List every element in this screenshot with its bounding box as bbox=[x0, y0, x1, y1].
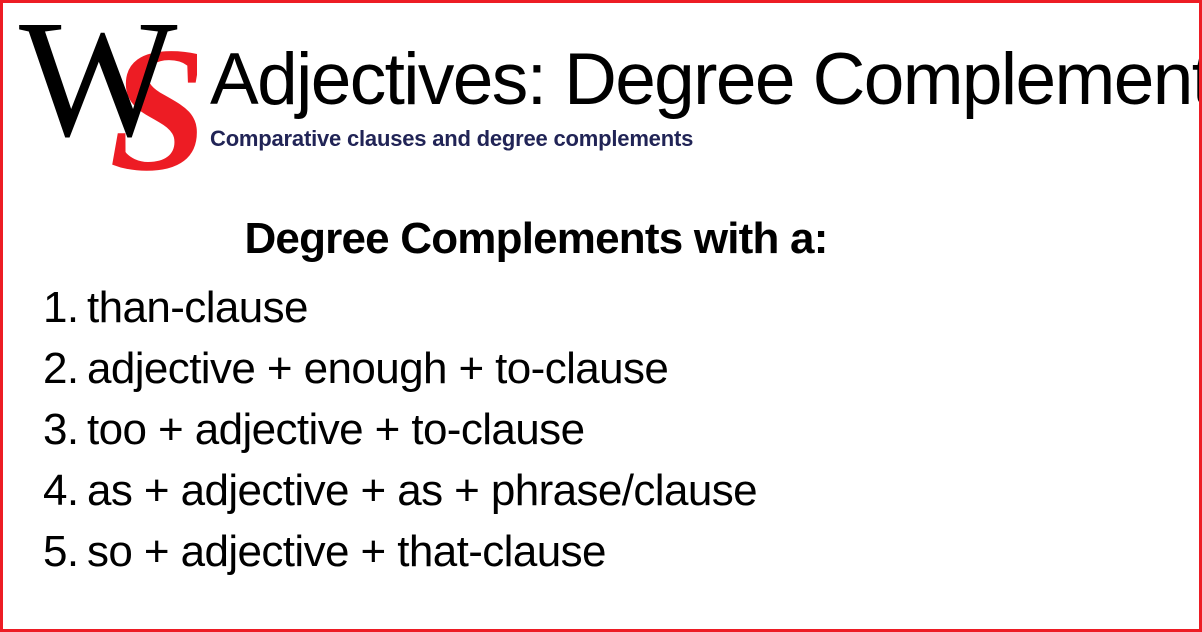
header-text-block: Adjectives: Degree Complements Comparati… bbox=[210, 39, 1170, 154]
list-item: 1. than-clause bbox=[3, 277, 1199, 338]
list-item: 3. too + adjective + to-clause bbox=[3, 399, 1199, 460]
degree-complement-list: 1. than-clause 2. adjective + enough + t… bbox=[3, 277, 1199, 582]
list-item-number: 5. bbox=[43, 521, 87, 582]
list-item: 4. as + adjective + as + phrase/clause bbox=[3, 460, 1199, 521]
list-item-number: 1. bbox=[43, 277, 87, 338]
page-subtitle: Comparative clauses and degree complemen… bbox=[210, 124, 1170, 154]
list-item: 5. so + adjective + that-clause bbox=[3, 521, 1199, 582]
page-title: Adjectives: Degree Complements bbox=[210, 39, 1170, 121]
list-item-number: 3. bbox=[43, 399, 87, 460]
list-item-label: so + adjective + that-clause bbox=[87, 521, 606, 582]
list-item-label: too + adjective + to-clause bbox=[87, 399, 584, 460]
slide-frame: S W Adjectives: Degree Complements Compa… bbox=[0, 0, 1202, 632]
logo-letter-w: W bbox=[19, 7, 178, 172]
list-item: 2. adjective + enough + to-clause bbox=[3, 338, 1199, 399]
list-item-number: 4. bbox=[43, 460, 87, 521]
list-item-label: than-clause bbox=[87, 277, 308, 338]
ws-monogram-logo: S W bbox=[17, 7, 197, 189]
body-heading: Degree Complements with a: bbox=[3, 199, 1199, 267]
list-item-label: as + adjective + as + phrase/clause bbox=[87, 460, 757, 521]
list-item-number: 2. bbox=[43, 338, 87, 399]
svg-text:W: W bbox=[19, 7, 178, 172]
list-item-label: adjective + enough + to-clause bbox=[87, 338, 668, 399]
slide-body: Degree Complements with a: 1. than-claus… bbox=[3, 199, 1199, 629]
slide-header: S W Adjectives: Degree Complements Compa… bbox=[3, 3, 1199, 193]
